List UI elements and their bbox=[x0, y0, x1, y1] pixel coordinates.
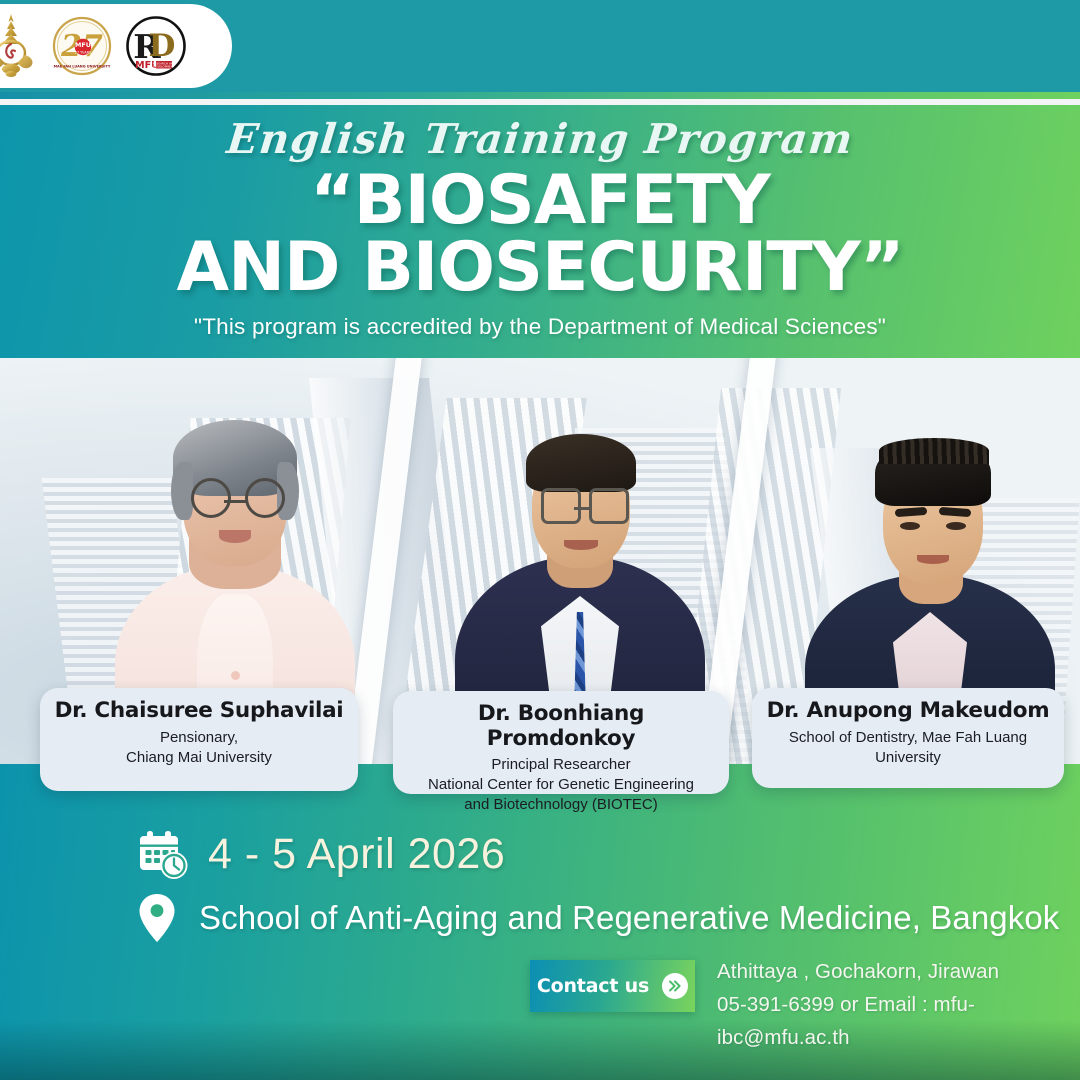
speaker-role-line: National Center for Genetic Engineering bbox=[403, 775, 719, 795]
speaker-3-eye-right bbox=[946, 522, 966, 530]
topbar-gap bbox=[0, 99, 1080, 105]
speaker-name: Dr. Anupong Makeudom bbox=[762, 699, 1054, 724]
svg-text:DEVELOPMENT: DEVELOPMENT bbox=[153, 65, 175, 69]
topbar-underline bbox=[0, 92, 1080, 99]
accreditation-note: "This program is accredited by the Depar… bbox=[194, 314, 886, 340]
svg-text:27 YEARS: 27 YEARS bbox=[75, 51, 91, 55]
speaker-3-hair-spikes bbox=[879, 438, 989, 464]
anniversary-27-logo: 27 MFU 27 YEARS MAE FAH LUANG UNIVERSITY bbox=[52, 16, 112, 76]
title-line-2: AND BIOSECURITY” bbox=[176, 235, 903, 302]
speaker-1-mouth bbox=[219, 530, 251, 543]
speaker-role: Pensionary, Chiang Mai University bbox=[50, 728, 348, 768]
contact-details: Athittaya , Gochakorn, Jirawan 05-391-63… bbox=[717, 955, 1080, 1055]
speaker-1-glasses-right bbox=[245, 478, 285, 518]
event-date: 4 - 5 April 2026 bbox=[208, 830, 505, 879]
svg-text:MAE FAH LUANG UNIVERSITY: MAE FAH LUANG UNIVERSITY bbox=[54, 65, 111, 69]
program-kicker: English Training Program bbox=[225, 119, 856, 160]
svg-text:MFU: MFU bbox=[75, 41, 91, 49]
speaker-role-line: Pensionary, bbox=[50, 728, 348, 748]
date-row: 4 - 5 April 2026 bbox=[136, 827, 505, 881]
logo-plate: 27 MFU 27 YEARS MAE FAH LUANG UNIVERSITY… bbox=[0, 4, 232, 88]
page-title: “BIOSAFETY AND BIOSECURITY” bbox=[176, 168, 903, 301]
speaker-card-2[interactable]: Dr. Boonhiang Promdonkoy Principal Resea… bbox=[393, 691, 729, 794]
speaker-1-glasses-left bbox=[191, 478, 231, 518]
speaker-role: School of Dentistry, Mae Fah Luang Unive… bbox=[762, 728, 1054, 768]
speaker-name: Dr. Chaisuree Suphavilai bbox=[50, 699, 348, 724]
speaker-2-glasses-right bbox=[589, 488, 629, 524]
header-banner: English Training Program “BIOSAFETY AND … bbox=[0, 105, 1080, 358]
speaker-1-glasses-bridge bbox=[224, 500, 246, 503]
speaker-name: Dr. Boonhiang Promdonkoy bbox=[403, 702, 719, 751]
speaker-role-line: Chiang Mai University bbox=[50, 748, 348, 768]
speaker-card-1[interactable]: Dr. Chaisuree Suphavilai Pensionary, Chi… bbox=[40, 688, 358, 791]
contact-button-label: Contact us bbox=[537, 975, 649, 997]
speaker-2-mouth bbox=[564, 540, 598, 550]
contact-phone-email[interactable]: 05-391-6399 or Email : mfu-ibc@mfu.ac.th bbox=[717, 988, 1080, 1054]
speaker-role-line: Principal Researcher bbox=[403, 755, 719, 775]
speaker-role-line: School of Dentistry, Mae Fah Luang bbox=[762, 728, 1054, 748]
speaker-1-hair-side bbox=[171, 462, 193, 520]
speaker-3-eye-left bbox=[900, 522, 920, 530]
speaker-2-hair bbox=[526, 434, 636, 492]
speaker-3-mouth bbox=[917, 555, 949, 564]
svg-text:D: D bbox=[149, 28, 176, 64]
mfu-royal-emblem-logo bbox=[0, 13, 38, 79]
double-chevron-right-icon bbox=[662, 973, 688, 999]
button-dot bbox=[231, 671, 240, 680]
speaker-2-glasses-left bbox=[541, 488, 581, 524]
speaker-2-glasses-bridge bbox=[574, 507, 590, 510]
speaker-role: Principal Researcher National Center for… bbox=[403, 755, 719, 814]
calendar-clock-icon bbox=[136, 827, 190, 881]
contact-names: Athittaya , Gochakorn, Jirawan bbox=[717, 955, 1080, 988]
location-pin-icon bbox=[137, 892, 177, 944]
event-venue: School of Anti-Aging and Regenerative Me… bbox=[199, 899, 1059, 937]
contact-us-button[interactable]: Contact us bbox=[530, 960, 695, 1012]
venue-row: School of Anti-Aging and Regenerative Me… bbox=[137, 892, 1059, 944]
speaker-card-3[interactable]: Dr. Anupong Makeudom School of Dentistry… bbox=[752, 688, 1064, 788]
speaker-role-line: University bbox=[762, 748, 1054, 768]
speaker-role-line: and Biotechnology (BIOTEC) bbox=[403, 795, 719, 815]
poster: 27 MFU 27 YEARS MAE FAH LUANG UNIVERSITY… bbox=[0, 0, 1080, 1080]
mfu-pd-circular-logo: R D MFU RESEARCH AND DEVELOPMENT bbox=[126, 16, 186, 76]
